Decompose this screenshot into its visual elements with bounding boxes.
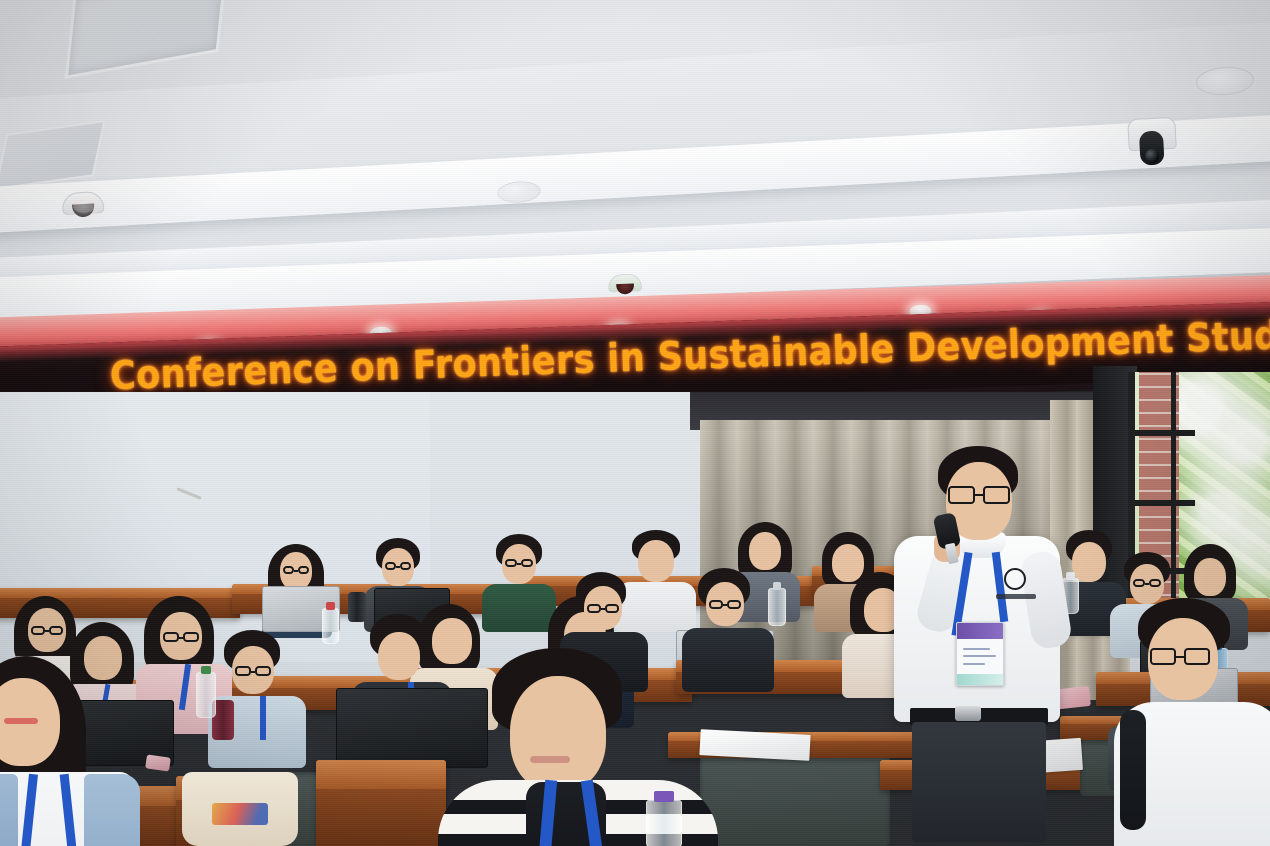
- chest-logo-text: [996, 594, 1036, 599]
- dell-laptop: [336, 688, 486, 766]
- chest-logo-icon: [1004, 568, 1026, 590]
- badge-footer: [957, 674, 1003, 685]
- denim-jacket: [0, 774, 18, 846]
- tote-bag: [182, 772, 298, 846]
- bag-patch-icon: [212, 803, 268, 825]
- smartphone: [145, 754, 171, 771]
- water-bottle: [768, 588, 786, 626]
- wall-mark: [176, 487, 201, 500]
- denim-jacket: [84, 774, 140, 846]
- ptz-camera-icon: [1127, 117, 1177, 151]
- lips: [530, 756, 570, 763]
- lips: [4, 718, 38, 724]
- air-vent-panel-icon: [65, 0, 227, 79]
- conference-photo-scene: Conference on Frontiers in Sustainable D…: [0, 0, 1270, 846]
- conference-badge: [956, 622, 1004, 686]
- speaker-trousers: [912, 722, 1046, 842]
- desk-row-front-center: [316, 760, 446, 846]
- badge-header: [957, 623, 1003, 639]
- water-bottle: [646, 800, 682, 846]
- camera-lens-icon: [1145, 149, 1160, 164]
- belt-buckle-icon: [955, 706, 981, 721]
- thermal-mug: [348, 592, 366, 622]
- water-bottle: [322, 608, 339, 644]
- jacket-stripe: [1120, 710, 1146, 830]
- eyeglasses-icon: [948, 486, 1010, 504]
- dome-camera-center-icon: [608, 274, 642, 293]
- downlight-icon: [73, 200, 95, 213]
- camera-head-icon: [1139, 130, 1165, 165]
- water-bottle: [196, 672, 216, 718]
